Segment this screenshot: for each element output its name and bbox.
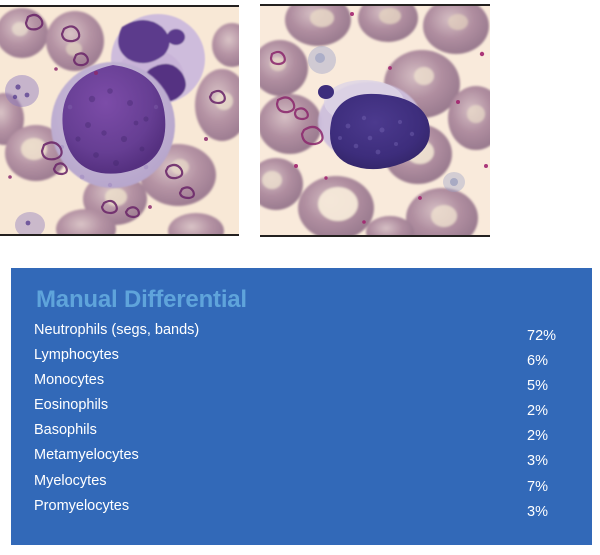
- table-cell-value: 6%: [527, 349, 587, 374]
- table-cell-value: 3%: [527, 449, 587, 474]
- blood-smear-image-2: [260, 4, 490, 237]
- differential-table: Neutrophils (segs, bands) Lymphocytes Mo…: [11, 318, 592, 533]
- table-row: Monocytes: [34, 368, 454, 393]
- table-row: Basophils: [34, 418, 454, 443]
- blood-smear-graphic-2: [260, 6, 490, 235]
- table-row: Myelocytes: [34, 469, 454, 494]
- table-row: Promyelocytes: [34, 494, 454, 519]
- table-cell-value: 7%: [527, 475, 587, 500]
- table-row: Eosinophils: [34, 393, 454, 418]
- table-cell-value: 72%: [527, 324, 587, 349]
- blood-smear-graphic-1: [0, 7, 239, 234]
- table-cell-value: 2%: [527, 424, 587, 449]
- differential-value-column: 72% 6% 5% 2% 2% 3% 7% 3%: [527, 324, 587, 525]
- differential-label-column: Neutrophils (segs, bands) Lymphocytes Mo…: [34, 318, 454, 519]
- table-cell-value: 2%: [527, 399, 587, 424]
- blood-smear-image-1: [0, 5, 239, 236]
- panel-title: Manual Differential: [36, 288, 247, 312]
- table-row: Metamyelocytes: [34, 443, 454, 468]
- table-row: Lymphocytes: [34, 343, 454, 368]
- micrograph-row: [0, 0, 600, 240]
- table-row: Neutrophils (segs, bands): [34, 318, 454, 343]
- table-cell-value: 5%: [527, 374, 587, 399]
- manual-differential-panel: Manual Differential Neutrophils (segs, b…: [11, 268, 592, 545]
- table-cell-value: 3%: [527, 500, 587, 525]
